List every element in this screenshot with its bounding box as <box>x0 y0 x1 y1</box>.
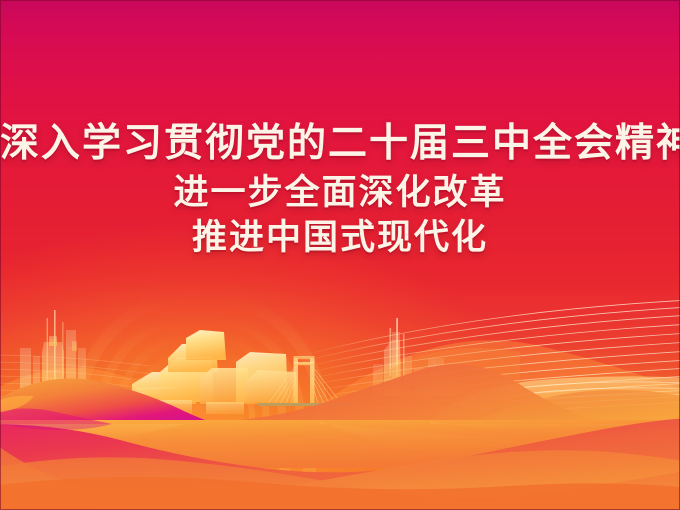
headline-line-1: 深入学习贯彻党的二十届三中全会精神 <box>0 124 680 164</box>
headline-block: 深入学习贯彻党的二十届三中全会精神 进一步全面深化改革 推进中国式现代化 <box>0 124 680 256</box>
poster-canvas: 深入学习贯彻党的二十届三中全会精神 进一步全面深化改革 推进中国式现代化 <box>0 0 680 510</box>
headline-line-2: 进一步全面深化改革 <box>0 175 680 211</box>
headline-line-3: 推进中国式现代化 <box>0 220 680 256</box>
